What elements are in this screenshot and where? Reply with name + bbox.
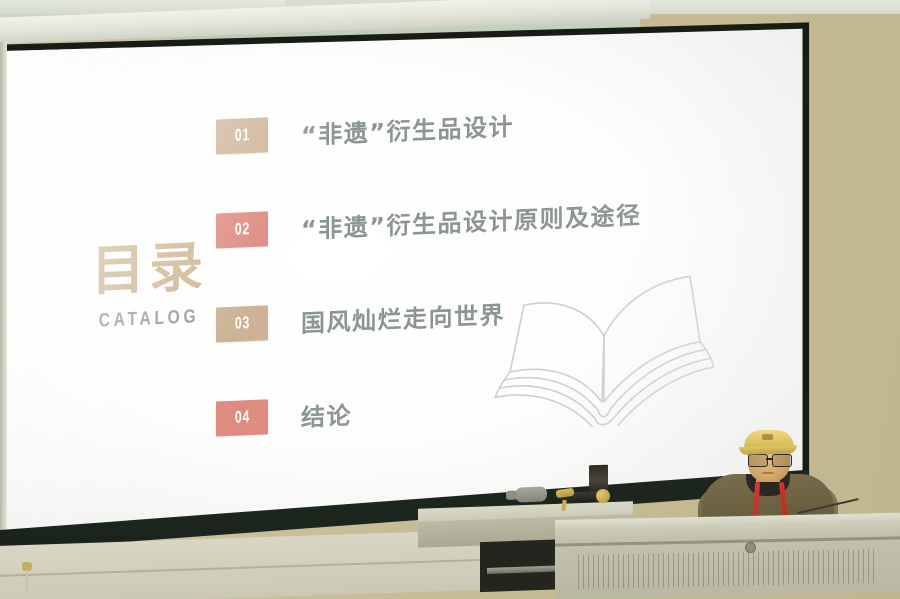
item-number-badge: 01 [216, 117, 268, 154]
item-number-badge: 03 [216, 305, 268, 342]
eyeglasses-icon [746, 454, 793, 465]
item-number: 02 [234, 219, 249, 240]
presentation-slide: 目录 CATALOG 01 “非遗”衍生品设计 02 “非遗”衍 [0, 16, 814, 546]
list-item: 01 “非遗”衍生品设计 [216, 91, 776, 159]
glasses-bridge [766, 458, 772, 460]
item-label: 国风灿烂走向世界 [301, 295, 505, 339]
lens-right [772, 454, 792, 467]
item-number: 01 [234, 125, 249, 146]
item-number: 04 [234, 407, 249, 428]
item-label: “非遗”衍生品设计 [301, 106, 514, 150]
projection-screen: 目录 CATALOG 01 “非遗”衍生品设计 02 “非遗”衍 [0, 16, 814, 546]
gas-tap-valve-icon [515, 486, 547, 502]
item-number-badge: 02 [216, 211, 268, 248]
gas-tap-knob-icon [596, 489, 610, 503]
lens-left [748, 454, 768, 467]
heading-english: CATALOG [71, 305, 227, 334]
open-book-icon [494, 245, 714, 454]
item-number: 03 [234, 313, 249, 334]
cap-logo [762, 434, 773, 440]
item-number-badge: 04 [216, 399, 268, 436]
classroom-scene: 目录 CATALOG 01 “非遗”衍生品设计 02 “非遗”衍 [0, 0, 900, 599]
person-mouth [762, 472, 774, 474]
item-label: 结论 [301, 395, 352, 432]
screen-left-edge [0, 42, 7, 547]
wall-hook-string [26, 570, 28, 594]
list-item: 02 “非遗”衍生品设计原则及途径 [216, 185, 776, 253]
desk-vent-grill [578, 549, 878, 589]
desk-knob-icon [745, 542, 756, 553]
item-label: “非遗”衍生品设计原则及途径 [301, 195, 642, 245]
